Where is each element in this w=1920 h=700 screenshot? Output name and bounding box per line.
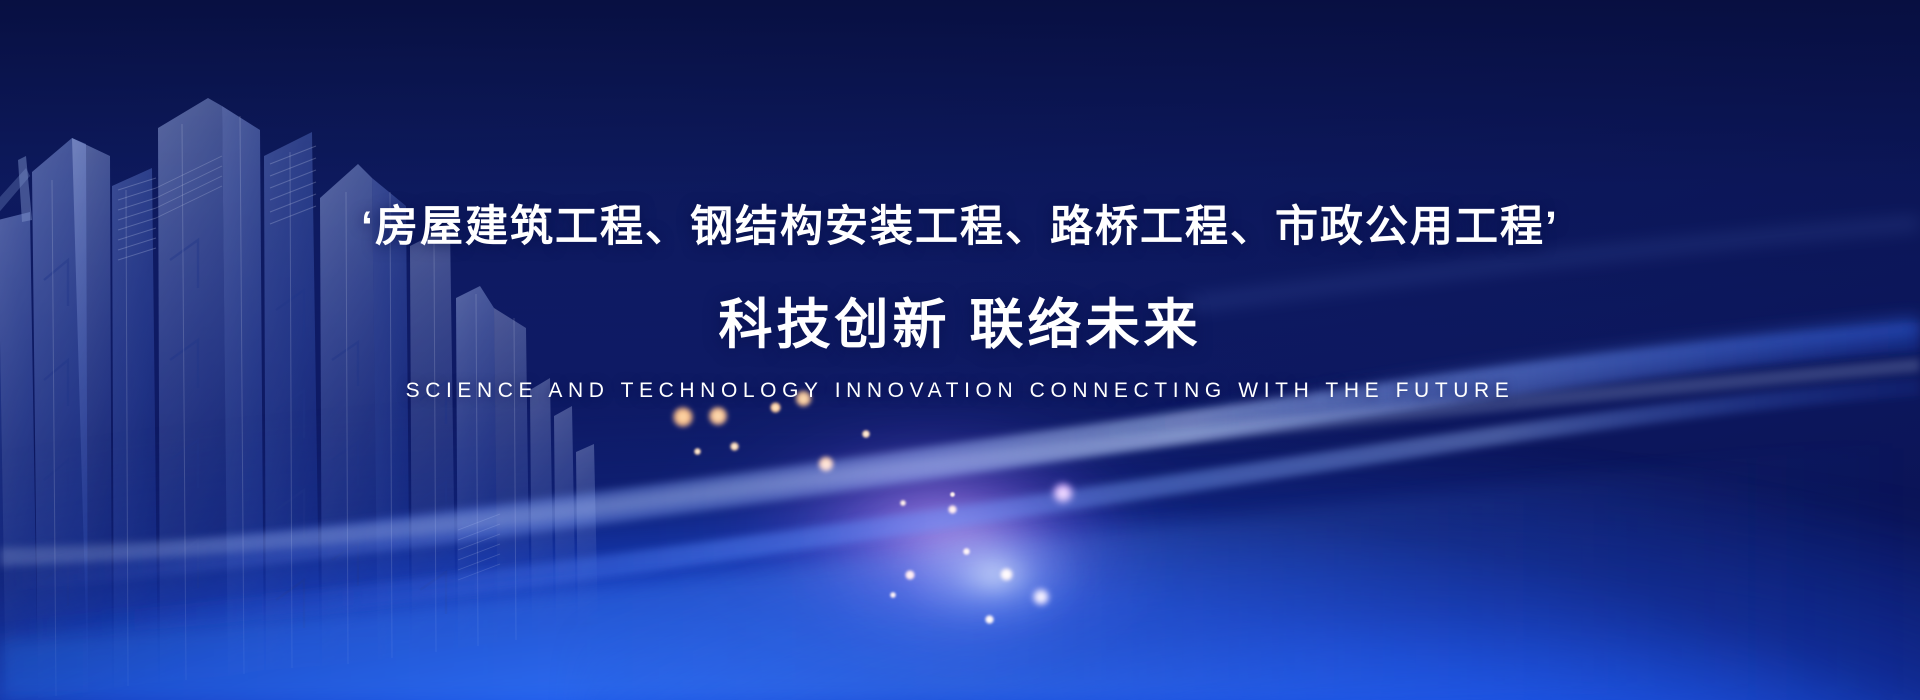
hero-banner: ‘房屋建筑工程、钢结构安装工程、路桥工程、市政公用工程’ 科技创新 联络未来 S… (0, 0, 1920, 700)
banner-content: ‘房屋建筑工程、钢结构安装工程、路桥工程、市政公用工程’ 科技创新 联络未来 S… (0, 0, 1920, 700)
headline-secondary: 科技创新 联络未来 (718, 296, 1201, 355)
subtitle-english: SCIENCE AND TECHNOLOGY INNOVATION CONNEC… (406, 379, 1515, 403)
headline-primary: ‘房屋建筑工程、钢结构安装工程、路桥工程、市政公用工程’ (361, 203, 1559, 251)
